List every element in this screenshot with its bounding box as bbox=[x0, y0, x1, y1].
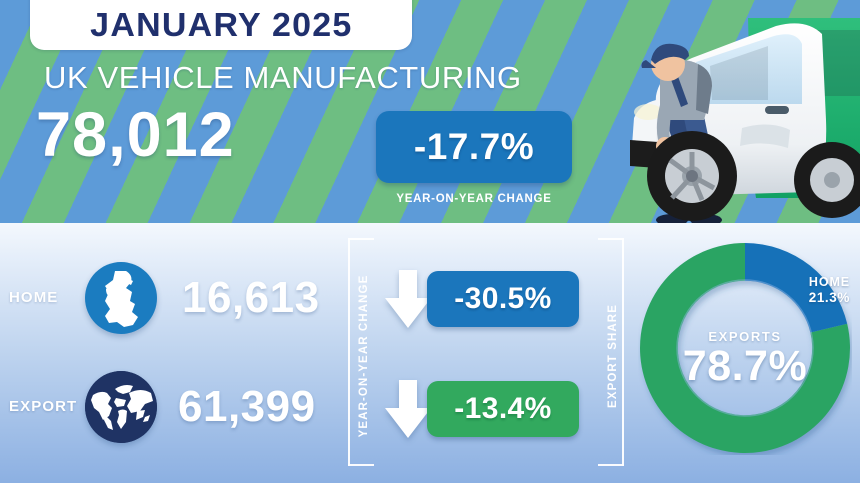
header-banner: JANUARY 2025 UK VEHICLE MANUFACTURING 78… bbox=[0, 0, 860, 223]
change-value-export: -13.4% bbox=[454, 392, 551, 426]
change-badge-home: -30.5% bbox=[427, 271, 579, 327]
bracket-year-on-year: YEAR-ON-YEAR CHANGE bbox=[348, 238, 376, 466]
bracket-tick-bottom bbox=[598, 464, 624, 466]
bracket-tick-top bbox=[598, 238, 624, 240]
bracket-stem bbox=[348, 238, 350, 466]
change-value-home: -30.5% bbox=[454, 282, 551, 316]
infographic-root: JANUARY 2025 UK VEHICLE MANUFACTURING 78… bbox=[0, 0, 860, 483]
donut-label-home: HOME bbox=[766, 275, 850, 289]
date-label: JANUARY 2025 bbox=[90, 6, 352, 44]
yoy-change-caption: YEAR-ON-YEAR CHANGE bbox=[376, 193, 572, 205]
wheel-front bbox=[647, 131, 737, 221]
row-label-export: EXPORT bbox=[9, 398, 77, 415]
van-illustration-svg bbox=[560, 0, 860, 223]
yoy-change-badge: -17.7% bbox=[376, 111, 572, 183]
globe-icon bbox=[85, 371, 157, 443]
donut-value-exports: 78.7% bbox=[616, 342, 860, 391]
date-tab: JANUARY 2025 bbox=[30, 0, 412, 50]
row-label-home: HOME bbox=[9, 289, 58, 306]
export-share-donut-chart: HOME 21.3% EXPORTS 78.7% bbox=[638, 241, 852, 455]
bracket-label-year-on-year: YEAR-ON-YEAR CHANGE bbox=[358, 242, 370, 470]
yoy-change-value: -17.7% bbox=[414, 126, 534, 168]
van-illustration bbox=[560, 0, 860, 223]
value-export: 61,399 bbox=[178, 385, 316, 429]
bracket-tick-top bbox=[348, 238, 374, 240]
value-home: 16,613 bbox=[182, 276, 320, 320]
globe-icon-svg bbox=[85, 371, 157, 443]
change-badge-export: -13.4% bbox=[427, 381, 579, 437]
uk-map-icon bbox=[85, 262, 157, 334]
total-units-value: 78,012 bbox=[36, 104, 235, 167]
uk-map-icon-svg bbox=[85, 262, 157, 334]
donut-value-home: 21.3% bbox=[766, 290, 850, 305]
page-title: UK VEHICLE MANUFACTURING bbox=[44, 60, 522, 96]
